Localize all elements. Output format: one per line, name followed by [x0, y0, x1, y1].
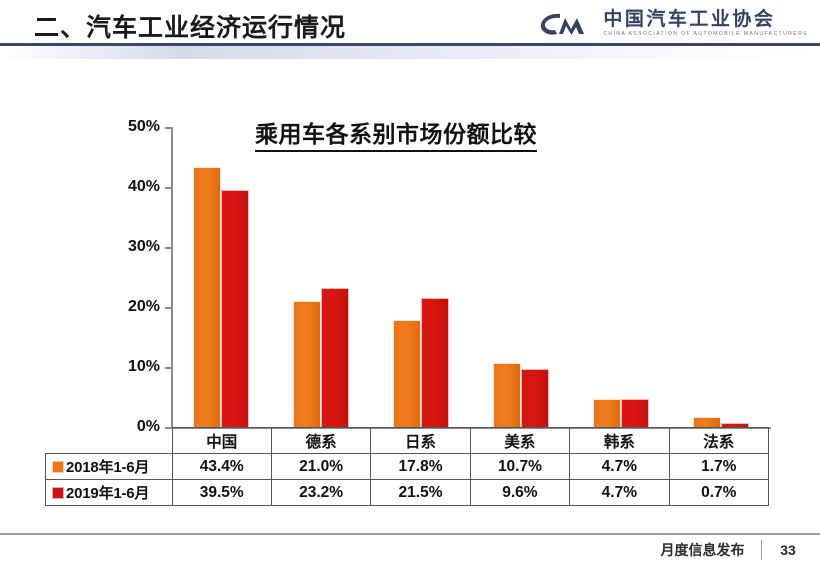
y-axis-tick-label: 40%	[128, 178, 160, 196]
legend-label: 2019年1-6月	[66, 485, 149, 502]
legend-item-2018年1-6月: 2018年1-6月	[46, 454, 173, 480]
y-axis-tick	[165, 247, 171, 249]
table-column-header-日系: 日系	[371, 428, 470, 454]
bar-2018-韩系	[593, 399, 621, 427]
table-cell-德系: 21.0%	[271, 454, 370, 480]
table-row: 2019年1-6月39.5%23.2%21.5%9.6%4.7%0.7%	[46, 480, 769, 506]
legend-item-2019年1-6月: 2019年1-6月	[46, 480, 173, 506]
table-corner-cell	[46, 428, 173, 454]
table-row: 2018年1-6月43.4%21.0%17.8%10.7%4.7%1.7%	[46, 454, 769, 480]
y-axis-tick-label: 50%	[128, 118, 160, 136]
y-axis-tick-label: 20%	[128, 298, 160, 316]
plot-area: 0%10%20%30%40%50%	[171, 127, 771, 427]
table-cell-美系: 10.7%	[470, 454, 569, 480]
y-axis-tick-label: 10%	[128, 358, 160, 376]
bar-2019-德系	[321, 288, 349, 427]
legend-swatch-icon	[52, 487, 64, 499]
logo-chinese-name: 中国汽车工业协会	[603, 10, 808, 29]
slide-header: 二、汽车工业经济运行情况 中国汽车工业协会 CHINA ASSOCIATION …	[0, 0, 820, 52]
table-cell-日系: 17.8%	[371, 454, 470, 480]
table-column-header-德系: 德系	[271, 428, 370, 454]
table-column-header-中国: 中国	[172, 428, 271, 454]
legend-label: 2018年1-6月	[66, 459, 149, 476]
page-title: 二、汽车工业经济运行情况	[34, 8, 346, 44]
logo-english-name: CHINA ASSOCIATION OF AUTOMOBILE MANUFACT…	[603, 32, 808, 37]
table-cell-韩系: 4.7%	[570, 454, 669, 480]
y-axis-tick	[165, 307, 171, 309]
footer-separator	[761, 540, 763, 560]
page-number: 33	[778, 542, 798, 558]
table-cell-中国: 39.5%	[172, 480, 271, 506]
table-header-row: 中国德系日系美系韩系法系	[46, 428, 769, 454]
bar-2019-美系	[521, 369, 549, 427]
table-column-header-韩系: 韩系	[570, 428, 669, 454]
table-cell-美系: 9.6%	[470, 480, 569, 506]
bar-2018-日系	[393, 320, 421, 427]
footer-label: 月度信息发布	[661, 540, 745, 560]
y-axis-tick-label: 30%	[128, 238, 160, 256]
y-axis-tick	[165, 127, 171, 129]
table-column-header-法系: 法系	[669, 428, 768, 454]
table-cell-韩系: 4.7%	[570, 480, 669, 506]
table-cell-法系: 0.7%	[669, 480, 768, 506]
bar-2018-法系	[693, 417, 721, 427]
data-table: 中国德系日系美系韩系法系2018年1-6月43.4%21.0%17.8%10.7…	[45, 427, 769, 506]
y-axis-tick	[165, 367, 171, 369]
table-cell-中国: 43.4%	[172, 454, 271, 480]
bar-2018-德系	[293, 301, 321, 427]
table-column-header-美系: 美系	[470, 428, 569, 454]
bar-2018-美系	[493, 363, 521, 427]
table-cell-德系: 23.2%	[271, 480, 370, 506]
logo-text: 中国汽车工业协会 CHINA ASSOCIATION OF AUTOMOBILE…	[603, 10, 808, 37]
bar-2019-日系	[421, 298, 449, 427]
header-gradient-band	[0, 46, 820, 59]
bar-2019-韩系	[621, 399, 649, 427]
table-cell-法系: 1.7%	[669, 454, 768, 480]
slide-footer: 月度信息发布 33	[661, 540, 799, 560]
y-axis-tick	[165, 187, 171, 189]
y-axis-line	[171, 127, 173, 427]
legend-swatch-icon	[52, 461, 64, 473]
footer-divider-rule	[0, 533, 820, 535]
table-cell-日系: 21.5%	[371, 480, 470, 506]
association-logo: 中国汽车工业协会 CHINA ASSOCIATION OF AUTOMOBILE…	[538, 9, 808, 39]
bar-2018-中国	[193, 167, 221, 427]
bar-2019-中国	[221, 190, 249, 427]
cam-logo-icon	[538, 9, 594, 39]
